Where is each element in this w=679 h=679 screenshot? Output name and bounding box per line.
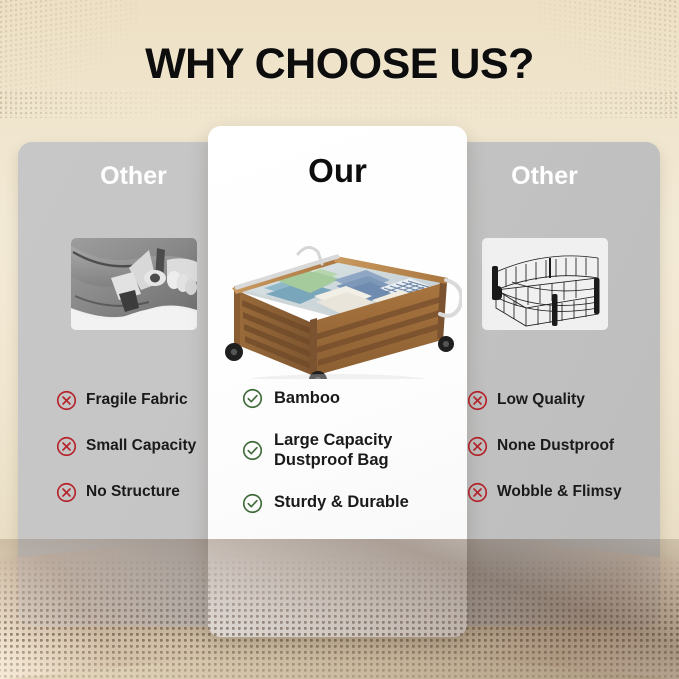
right-column-other: Other [447,142,642,626]
list-item-label: None Dustproof [497,437,614,456]
left-column-heading: Other [36,162,231,191]
check-circle-icon [242,493,263,514]
center-column-heading: Our [208,152,467,190]
list-item: Low Quality [447,390,642,411]
list-item: Small Capacity [36,436,231,457]
left-product-image [71,238,197,330]
list-item: Fragile Fabric [36,390,231,411]
texture-band [0,92,679,118]
list-item: None Dustproof [447,436,642,457]
wire-basket-photo-icon [482,238,608,330]
check-circle-icon [242,388,263,409]
list-item-label: Sturdy & Durable [274,493,409,513]
list-item: Bamboo [208,388,467,409]
list-item-label: Small Capacity [86,437,196,456]
center-product-image [214,204,462,379]
list-item-label: Wobble & Flimsy [497,483,622,502]
list-item: Wobble & Flimsy [447,482,642,503]
x-circle-icon [56,482,77,503]
right-feature-list: Low Quality None Dustproof Wobble & Flim… [447,390,642,528]
list-item: Sturdy & Durable [208,493,467,514]
bamboo-storage-box-icon [214,204,462,379]
list-item: Large Capacity Dustproof Bag [208,431,467,471]
list-item-label: No Structure [86,483,180,502]
check-circle-icon [242,440,263,461]
x-circle-icon [56,390,77,411]
x-circle-icon [467,436,488,457]
list-item-label-line1: Large Capacity [274,431,392,449]
x-circle-icon [467,482,488,503]
list-item-label: Low Quality [497,391,585,410]
x-circle-icon [467,390,488,411]
center-feature-list: Bamboo Large Capacity Dustproof Bag Stur… [208,388,467,536]
list-item-label-line2: Dustproof Bag [274,451,389,469]
left-column-other: Other [36,142,231,626]
list-item-label-multiline: Large Capacity Dustproof Bag [274,431,392,471]
list-item-label: Fragile Fabric [86,391,188,410]
page-title: WHY CHOOSE US? [0,40,679,89]
list-item: No Structure [36,482,231,503]
right-column-heading: Other [447,162,642,191]
right-product-image [482,238,608,330]
our-product-card: Our [208,126,467,637]
fabric-bag-photo-icon [71,238,197,330]
list-item-label: Bamboo [274,389,340,409]
x-circle-icon [56,436,77,457]
left-feature-list: Fragile Fabric Small Capacity No Structu… [36,390,231,528]
comparison-infographic: WHY CHOOSE US? Other [0,0,679,679]
